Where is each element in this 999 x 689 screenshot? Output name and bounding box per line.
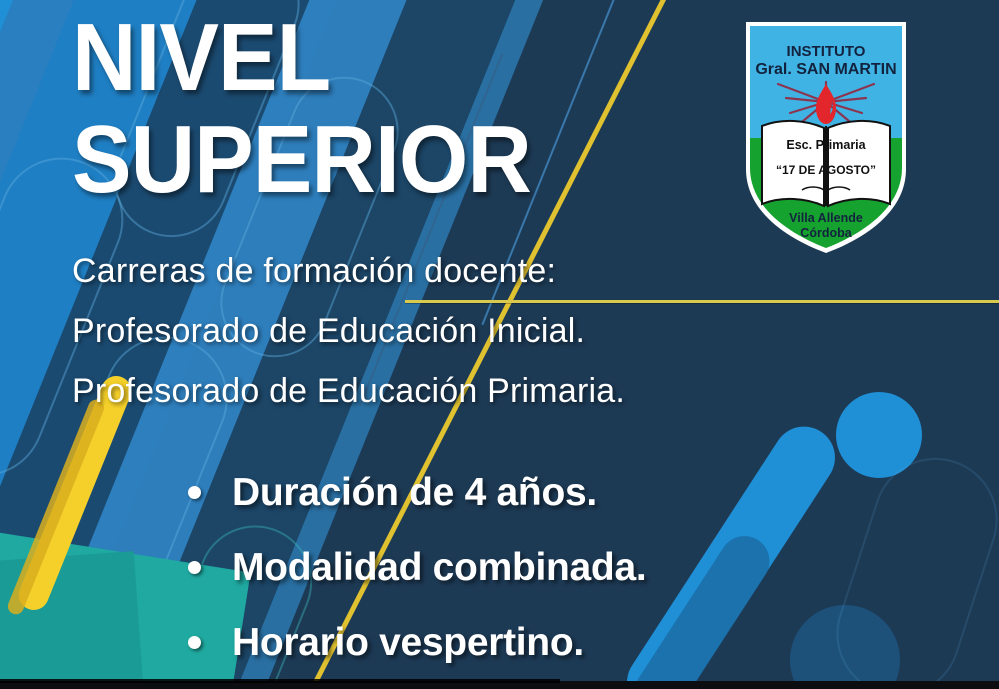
bullet-dot-icon: [188, 561, 201, 574]
poster-content: NIVEL SUPERIOR Carreras de formación doc…: [0, 0, 999, 689]
bullet-list: Duración de 4 años. Modalidad combinada.…: [188, 455, 646, 680]
bullet-dot-icon: [188, 636, 201, 649]
logo-book-line1: Esc. Primaria: [786, 138, 866, 152]
list-item: Horario vespertino.: [188, 605, 646, 680]
bullet-label: Duración de 4 años.: [232, 471, 597, 515]
institute-logo: INSTITUTO Gral. SAN MARTIN: [742, 18, 910, 254]
bullet-label: Modalidad combinada.: [232, 546, 646, 590]
shield-crest-icon: INSTITUTO Gral. SAN MARTIN: [742, 18, 910, 254]
bullet-dot-icon: [188, 486, 201, 499]
title-line-1: NIVEL: [72, 14, 330, 102]
title-line-2: SUPERIOR: [72, 116, 531, 204]
logo-book-line2: “17 DE AGOSTO”: [776, 163, 876, 177]
subtitle-line-3: Profesorado de Educación Primaria.: [72, 372, 625, 411]
logo-institute-line2: Gral. SAN MARTIN: [755, 61, 896, 78]
logo-city: Villa Allende: [789, 211, 863, 225]
list-item: Modalidad combinada.: [188, 530, 646, 605]
poster: NIVEL SUPERIOR Carreras de formación doc…: [0, 0, 999, 689]
bullet-label: Horario vespertino.: [232, 621, 584, 665]
list-item: Duración de 4 años.: [188, 455, 646, 530]
subtitle-line-1: Carreras de formación docente:: [72, 252, 556, 291]
subtitle-line-2: Profesorado de Educación Inicial.: [72, 312, 585, 351]
logo-institute-line1: INSTITUTO: [787, 43, 866, 60]
logo-province: Córdoba: [800, 226, 852, 240]
